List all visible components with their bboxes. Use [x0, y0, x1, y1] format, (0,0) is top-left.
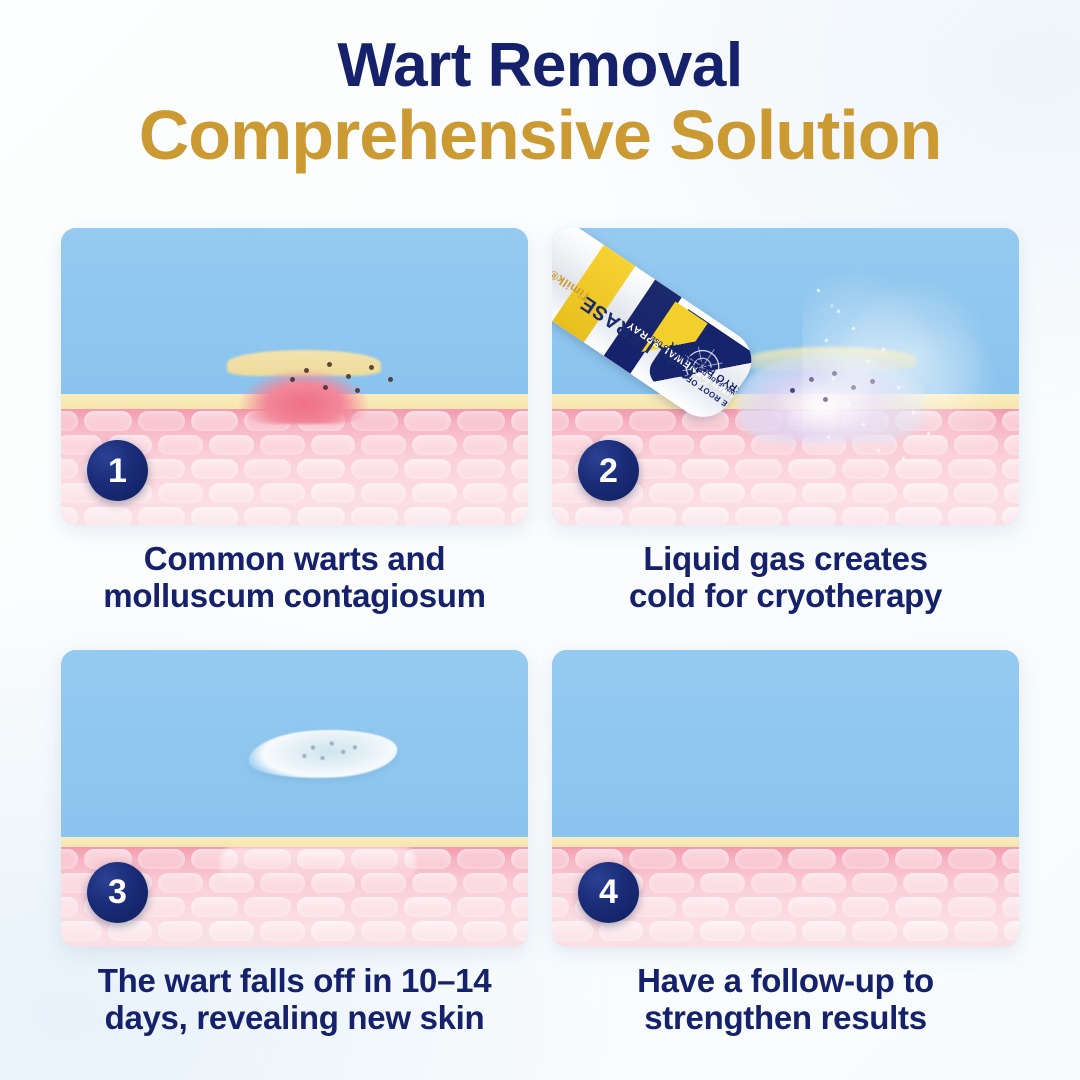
step-caption-1: Common warts and molluscum contagiosum	[61, 540, 528, 615]
title-line-secondary: Comprehensive Solution	[0, 99, 1080, 173]
step-illustration-3: 3	[61, 650, 528, 947]
caption-line-4b: strengthen results	[552, 999, 1019, 1036]
step-card-2: Timilk® CHILLERASE BUMP RENEWAL SPRAY PR…	[552, 228, 1019, 615]
caption-line-1a: Common warts and	[61, 540, 528, 577]
step-number-2: 2	[599, 454, 618, 488]
page-title: Wart Removal Comprehensive Solution	[0, 0, 1080, 173]
step-caption-2: Liquid gas creates cold for cryotherapy	[552, 540, 1019, 615]
caption-line-1b: molluscum contagiosum	[61, 577, 528, 614]
caption-line-4a: Have a follow-up to	[552, 962, 1019, 999]
steps-grid: 1 Common warts and molluscum contagiosum	[61, 228, 1020, 1036]
step-caption-4: Have a follow-up to strengthen results	[552, 962, 1019, 1037]
mist-droplets	[802, 268, 1019, 478]
step-illustration-4: 4	[552, 650, 1019, 947]
caption-line-3b: days, revealing new skin	[61, 999, 528, 1036]
spray-mist	[802, 268, 1019, 478]
step-card-4: 4 Have a follow-up to strengthen results	[552, 650, 1019, 1037]
step-badge-1: 1	[87, 440, 148, 501]
step-illustration-1: 1	[61, 228, 528, 525]
step-number-4: 4	[599, 875, 618, 909]
step-illustration-2: Timilk® CHILLERASE BUMP RENEWAL SPRAY PR…	[552, 228, 1019, 525]
step-badge-4: 4	[578, 862, 639, 923]
step-caption-3: The wart falls off in 10–14 days, reveal…	[61, 962, 528, 1037]
step-number-3: 3	[108, 875, 127, 909]
epidermis-layer	[61, 837, 528, 847]
step-card-3: 3 The wart falls off in 10–14 days, reve…	[61, 650, 528, 1037]
caption-line-2b: cold for cryotherapy	[552, 577, 1019, 614]
title-line-primary: Wart Removal	[0, 34, 1080, 97]
step-badge-2: 2	[578, 440, 639, 501]
step-badge-3: 3	[87, 862, 148, 923]
epidermis-layer	[552, 837, 1019, 847]
step-number-1: 1	[108, 454, 127, 488]
sky-layer	[552, 650, 1019, 837]
caption-line-2a: Liquid gas creates	[552, 540, 1019, 577]
caption-line-3a: The wart falls off in 10–14	[61, 962, 528, 999]
step-card-1: 1 Common warts and molluscum contagiosum	[61, 228, 528, 615]
new-skin-patch	[220, 847, 416, 881]
